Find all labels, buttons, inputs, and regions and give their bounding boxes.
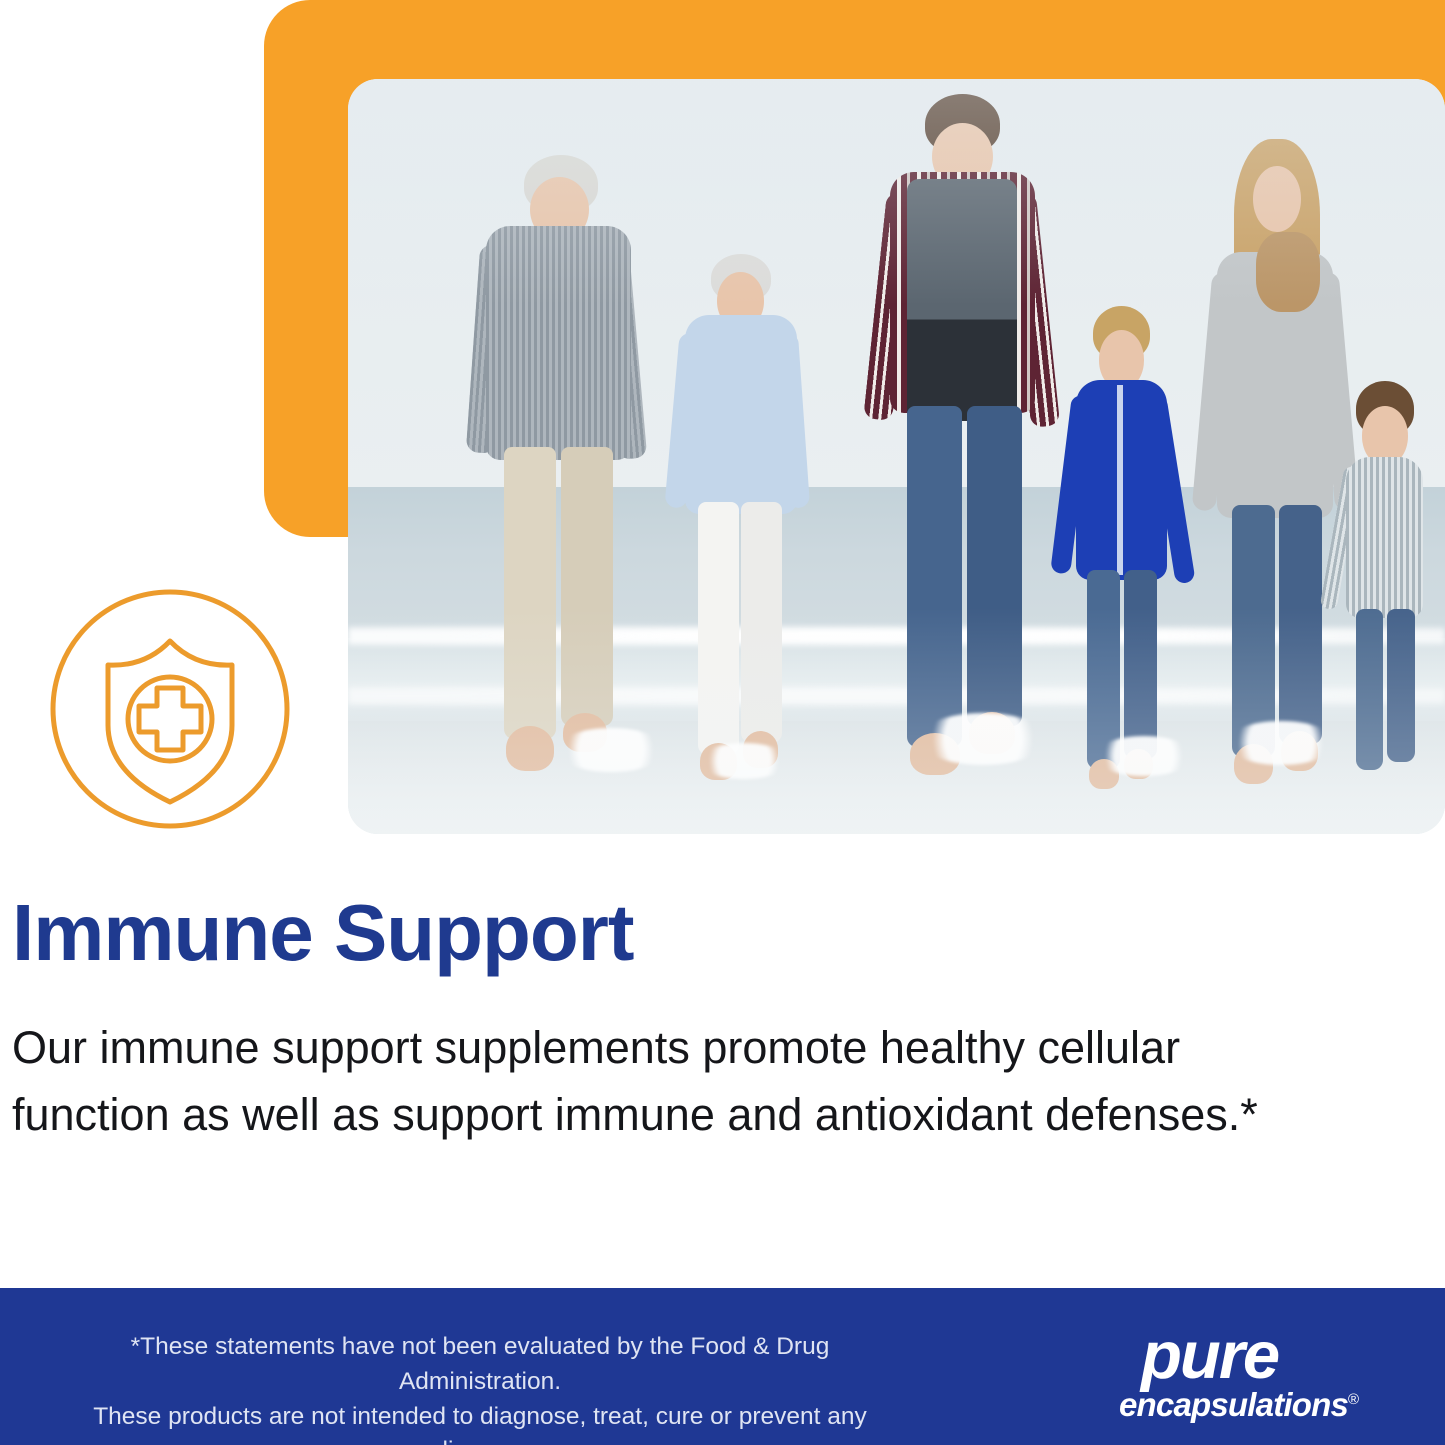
torso	[1346, 457, 1423, 618]
copy-block: Immune Support Our immune support supple…	[12, 893, 1312, 1148]
leg-right	[561, 447, 614, 726]
immune-shield-badge	[45, 584, 295, 834]
hoodie-zipper	[1117, 385, 1123, 574]
photo-person-man	[853, 94, 1072, 804]
head	[1253, 166, 1301, 232]
leg-right	[967, 406, 1022, 725]
photo-person-child	[1324, 381, 1445, 804]
foot-left	[506, 726, 554, 771]
footer-bar: *These statements have not been evaluate…	[0, 1288, 1445, 1445]
fda-disclaimer: *These statements have not been evaluate…	[50, 1330, 910, 1445]
registered-trademark-icon: ®	[1348, 1391, 1358, 1408]
description-text: Our immune support supplements promote h…	[12, 1015, 1282, 1148]
photo-person-older-man	[447, 155, 666, 804]
brand-logo-primary: pure	[1119, 1324, 1369, 1388]
leg-left	[504, 447, 557, 739]
torso	[486, 226, 631, 460]
brand-logo-secondary-text: encapsulations	[1119, 1386, 1348, 1423]
product-banner: Immune Support Our immune support supple…	[0, 0, 1445, 1445]
leg-right	[741, 502, 782, 744]
hero-photo	[348, 79, 1445, 834]
photo-person-boy	[1050, 306, 1193, 804]
photo-person-older-woman	[644, 200, 830, 804]
shield-with-medical-cross-icon	[45, 584, 295, 834]
page-title: Immune Support	[12, 893, 1312, 973]
leg-left	[698, 502, 739, 756]
leg-left	[1232, 505, 1275, 757]
leg-left	[1356, 609, 1384, 770]
torso	[685, 315, 797, 514]
brand-logo-secondary: encapsulations®	[1119, 1388, 1369, 1421]
fda-disclaimer-line-1: *These statements have not been evaluate…	[50, 1330, 910, 1400]
leg-right	[1279, 505, 1322, 744]
leg-left	[907, 406, 962, 747]
leg-right	[1387, 609, 1415, 761]
scarf	[1256, 232, 1319, 312]
brand-logo[interactable]: pure encapsulations®	[1119, 1324, 1369, 1421]
water-splash	[918, 713, 1048, 765]
fda-disclaimer-line-2: These products are not intended to diagn…	[50, 1400, 910, 1445]
leg-right	[1124, 570, 1157, 759]
water-splash	[1094, 736, 1194, 776]
quilted-vest	[907, 179, 1017, 420]
water-splash	[1226, 721, 1336, 765]
